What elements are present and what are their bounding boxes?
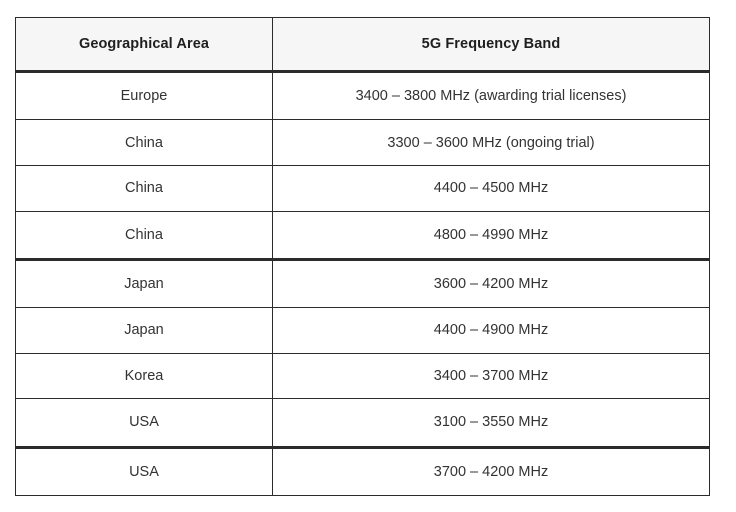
cell-geographical-area: Korea bbox=[16, 353, 273, 399]
table-row: Europe3400 – 3800 MHz (awarding trial li… bbox=[16, 72, 710, 120]
frequency-band-table-container: Geographical Area 5G Frequency Band Euro… bbox=[15, 17, 709, 496]
cell-5g-frequency-band: 4800 – 4990 MHz bbox=[273, 211, 710, 259]
table-row: USA3700 – 4200 MHz bbox=[16, 447, 710, 495]
column-header-5g-frequency-band: 5G Frequency Band bbox=[273, 18, 710, 72]
table-row: China4400 – 4500 MHz bbox=[16, 165, 710, 211]
5g-frequency-band-table: Geographical Area 5G Frequency Band Euro… bbox=[15, 17, 710, 496]
cell-5g-frequency-band: 4400 – 4500 MHz bbox=[273, 165, 710, 211]
table-body: Europe3400 – 3800 MHz (awarding trial li… bbox=[16, 72, 710, 496]
table-row: Japan3600 – 4200 MHz bbox=[16, 259, 710, 307]
cell-5g-frequency-band: 3400 – 3700 MHz bbox=[273, 353, 710, 399]
cell-geographical-area: China bbox=[16, 120, 273, 166]
cell-5g-frequency-band: 3400 – 3800 MHz (awarding trial licenses… bbox=[273, 72, 710, 120]
cell-5g-frequency-band: 3600 – 4200 MHz bbox=[273, 259, 710, 307]
table-header: Geographical Area 5G Frequency Band bbox=[16, 18, 710, 72]
table-row: China4800 – 4990 MHz bbox=[16, 211, 710, 259]
cell-5g-frequency-band: 3300 – 3600 MHz (ongoing trial) bbox=[273, 120, 710, 166]
table-row: Korea3400 – 3700 MHz bbox=[16, 353, 710, 399]
cell-geographical-area: Japan bbox=[16, 308, 273, 354]
cell-5g-frequency-band: 4400 – 4900 MHz bbox=[273, 308, 710, 354]
cell-geographical-area: Japan bbox=[16, 259, 273, 307]
column-header-geographical-area: Geographical Area bbox=[16, 18, 273, 72]
table-row: USA3100 – 3550 MHz bbox=[16, 399, 710, 447]
table-row: Japan4400 – 4900 MHz bbox=[16, 308, 710, 354]
cell-geographical-area: China bbox=[16, 211, 273, 259]
cell-5g-frequency-band: 3100 – 3550 MHz bbox=[273, 399, 710, 447]
cell-geographical-area: USA bbox=[16, 399, 273, 447]
table-row: China3300 – 3600 MHz (ongoing trial) bbox=[16, 120, 710, 166]
cell-geographical-area: USA bbox=[16, 447, 273, 495]
cell-geographical-area: Europe bbox=[16, 72, 273, 120]
cell-geographical-area: China bbox=[16, 165, 273, 211]
cell-5g-frequency-band: 3700 – 4200 MHz bbox=[273, 447, 710, 495]
table-header-row: Geographical Area 5G Frequency Band bbox=[16, 18, 710, 72]
